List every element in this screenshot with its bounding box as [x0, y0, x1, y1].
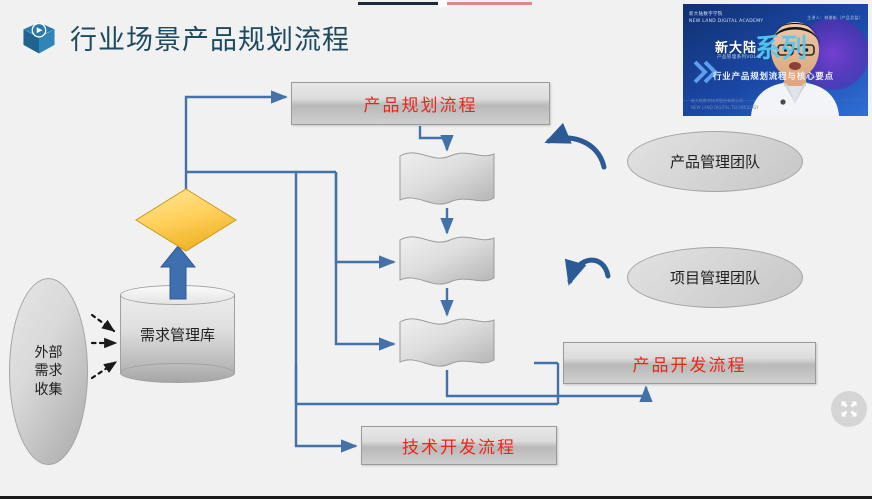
- video-footer-label: 新大陆数字技术股份有限公司NEW LAND DIGITAL TECHNOLOGY: [691, 98, 759, 111]
- video-progress-bar[interactable]: [358, 1, 532, 6]
- slide-header: 行业场景产品规划流程: [20, 18, 350, 57]
- progress-remaining: [442, 2, 532, 5]
- video-player-stage: 行业场景产品规划流程: [0, 0, 872, 499]
- page-title: 行业场景产品规划流程: [70, 18, 350, 57]
- video-topic-line: 行业产品规划流程与核心要点: [713, 70, 834, 82]
- progress-played: [358, 2, 442, 5]
- exit-fullscreen-icon: [839, 399, 859, 419]
- video-speaker-label: 主讲人：林俊彬（产品总监）: [807, 15, 863, 21]
- video-subtitle: 产品管理系列VOL.1: [717, 54, 762, 60]
- presenter-video-overlay[interactable]: 新大陆数字学院NEW LAND DIGITAL ACADEMY 系列 新大陆 产…: [683, 4, 868, 116]
- video-brand-label: 新大陆数字学院NEW LAND DIGITAL ACADEMY: [689, 12, 763, 26]
- progress-handle[interactable]: [438, 0, 447, 7]
- exit-fullscreen-button[interactable]: [831, 391, 867, 427]
- open-box-play-icon: [20, 19, 58, 57]
- video-headline-accent: 系列: [755, 28, 807, 65]
